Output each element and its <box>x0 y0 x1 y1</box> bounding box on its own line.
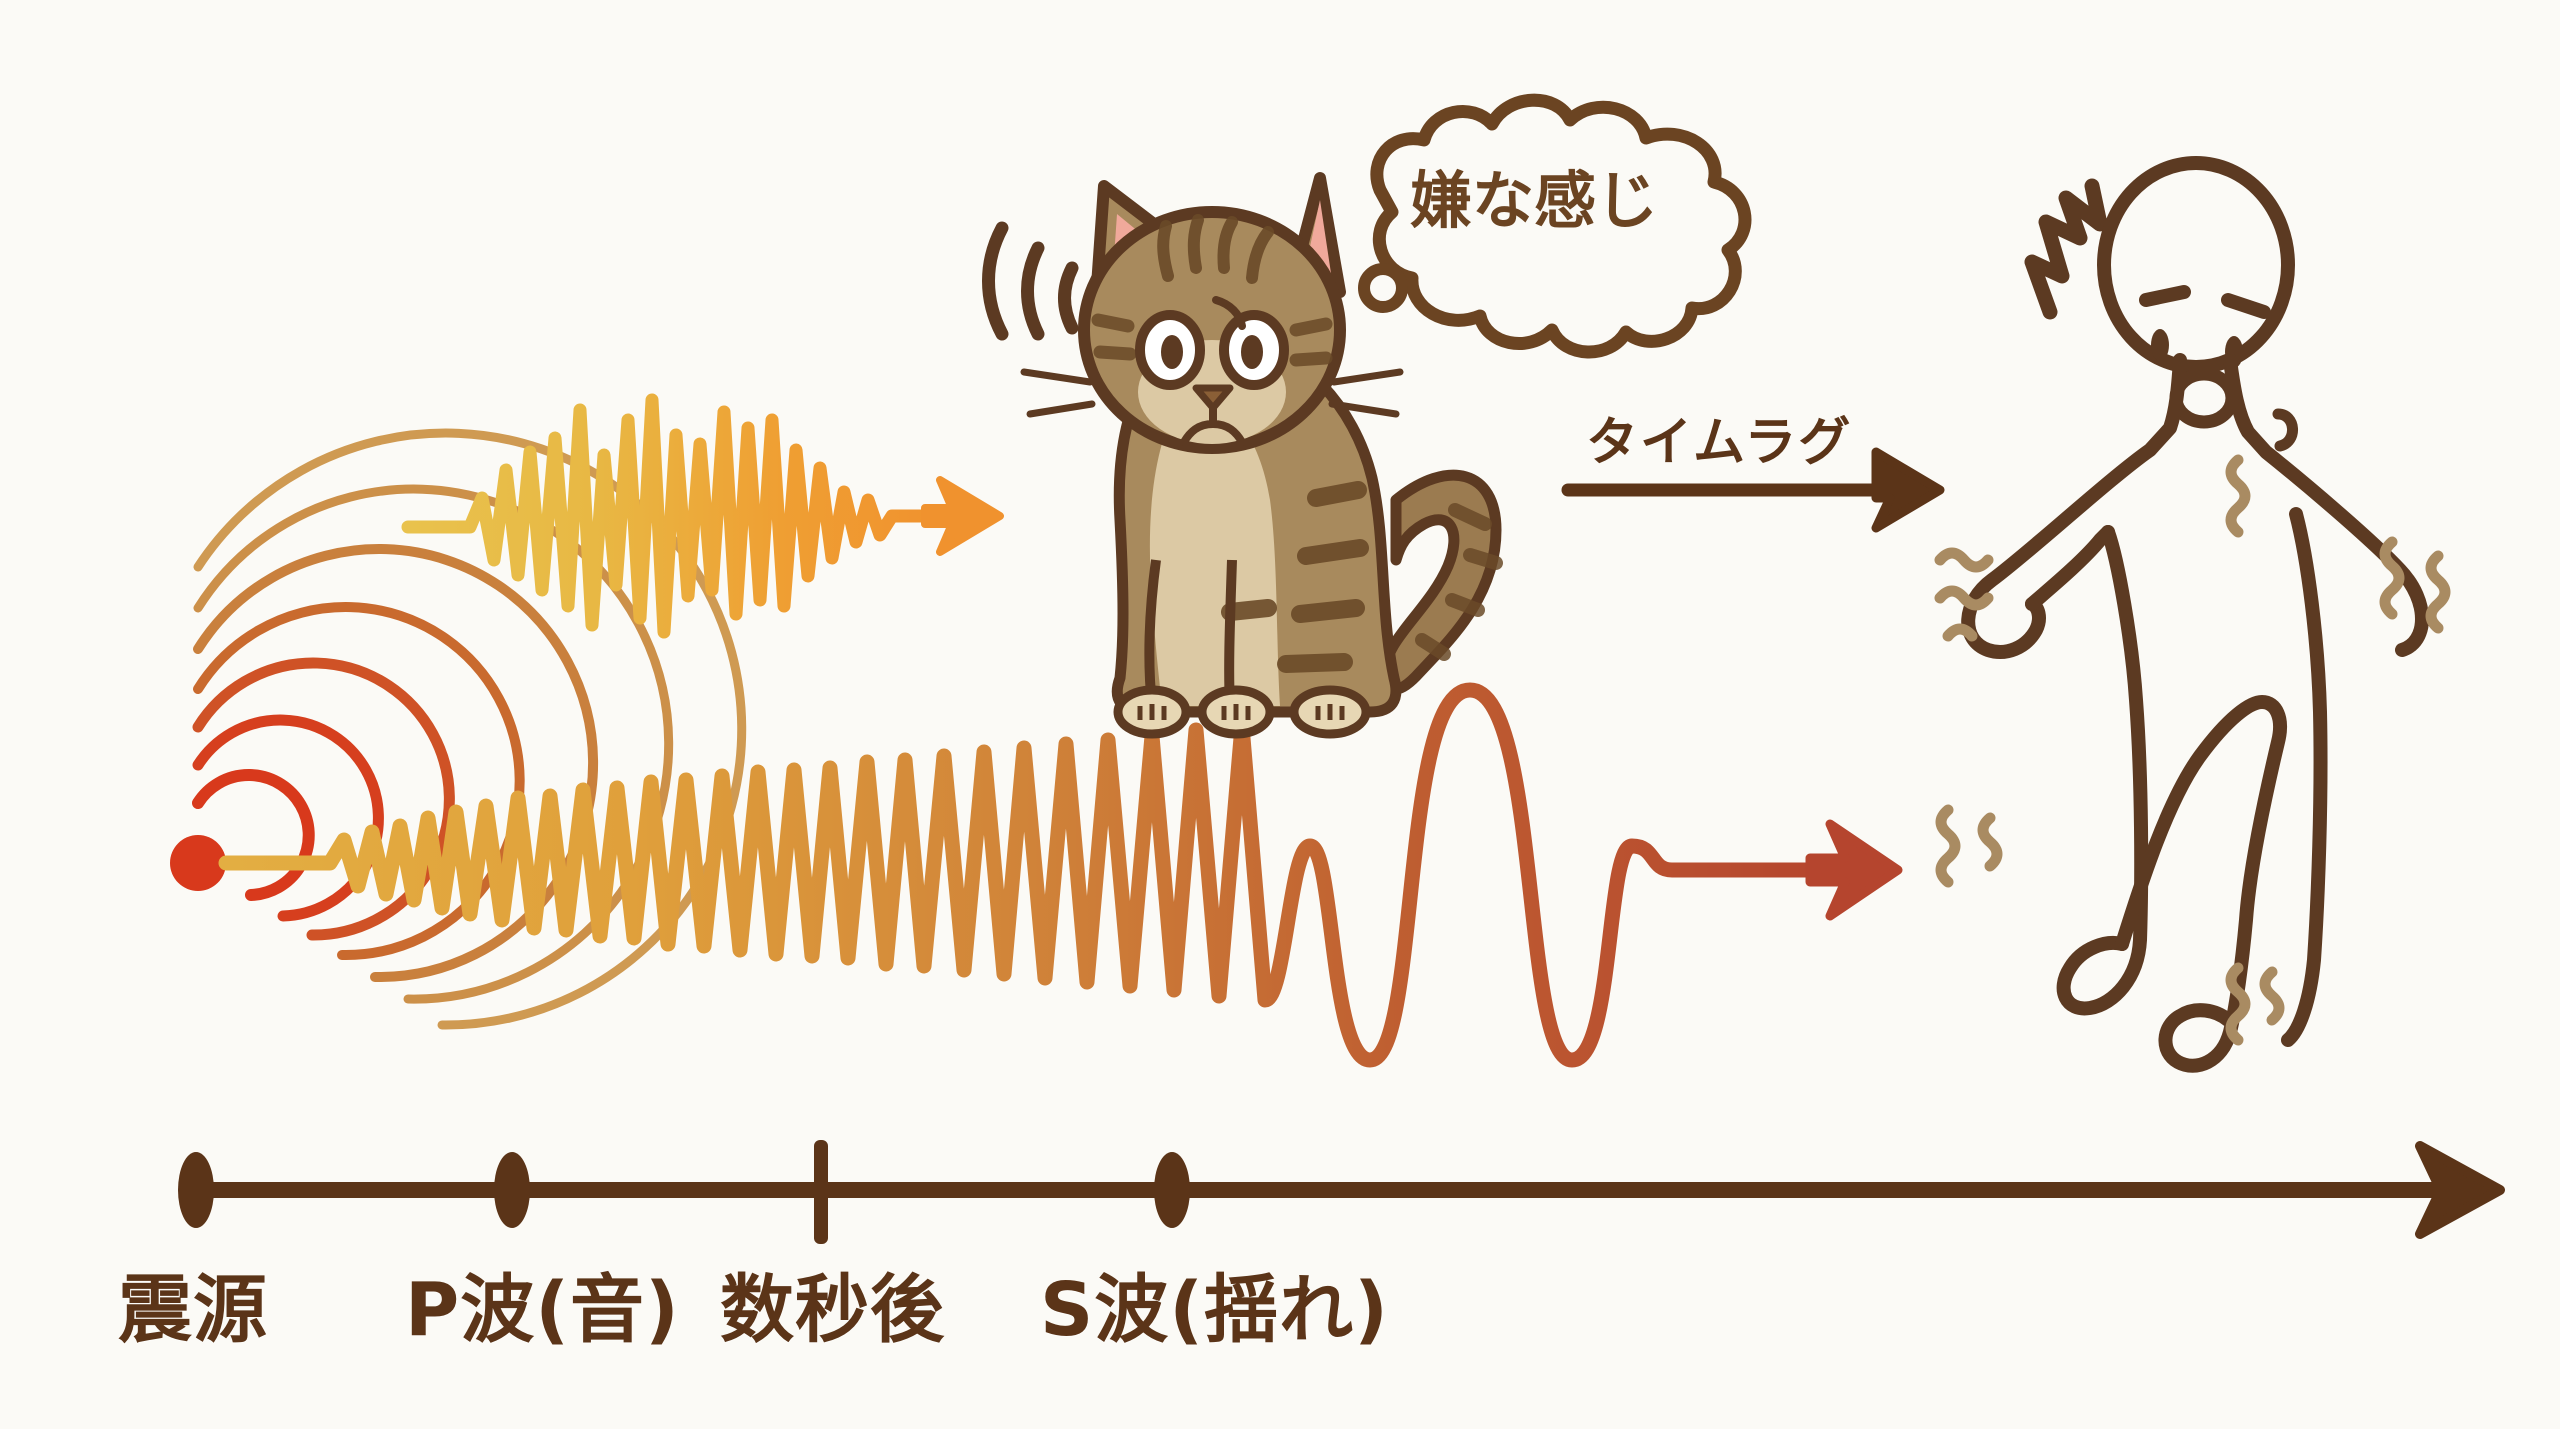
thought-bubble-dot <box>1364 269 1402 307</box>
timeline-axis <box>178 1140 2500 1244</box>
timeline-label-s-wave: S波(揺れ) <box>1040 1250 1389 1357</box>
thought-bubble-text: 嫌な感じ <box>1410 150 1658 240</box>
s-wave-trace <box>226 690 1898 1060</box>
timeline-label-epicenter: 震源 <box>118 1250 268 1357</box>
timeline-dot-s-wave[interactable] <box>1154 1152 1190 1228</box>
timeline-tick-few-seconds[interactable] <box>814 1140 828 1244</box>
time-lag-label: タイムラグ <box>1586 400 1852 475</box>
timeline-dot-p-wave[interactable] <box>494 1152 530 1228</box>
timeline-label-p-wave: P波(音) <box>405 1250 680 1357</box>
person-illustration <box>1940 163 2445 1066</box>
sound-wave-arcs-icon <box>989 228 1073 334</box>
epicenter-core <box>170 835 226 891</box>
s-wave-arrowhead <box>1810 824 1898 916</box>
timeline-label-few-seconds: 数秒後 <box>720 1250 945 1357</box>
illustration-canvas: 嫌な感じ タイムラグ 震源 P波(音) 数秒後 S波(揺れ) <box>0 0 2560 1429</box>
diagram-artwork <box>0 0 2560 1429</box>
p-wave-arrowhead <box>925 480 1000 552</box>
timeline-dot-epicenter[interactable] <box>178 1152 214 1228</box>
